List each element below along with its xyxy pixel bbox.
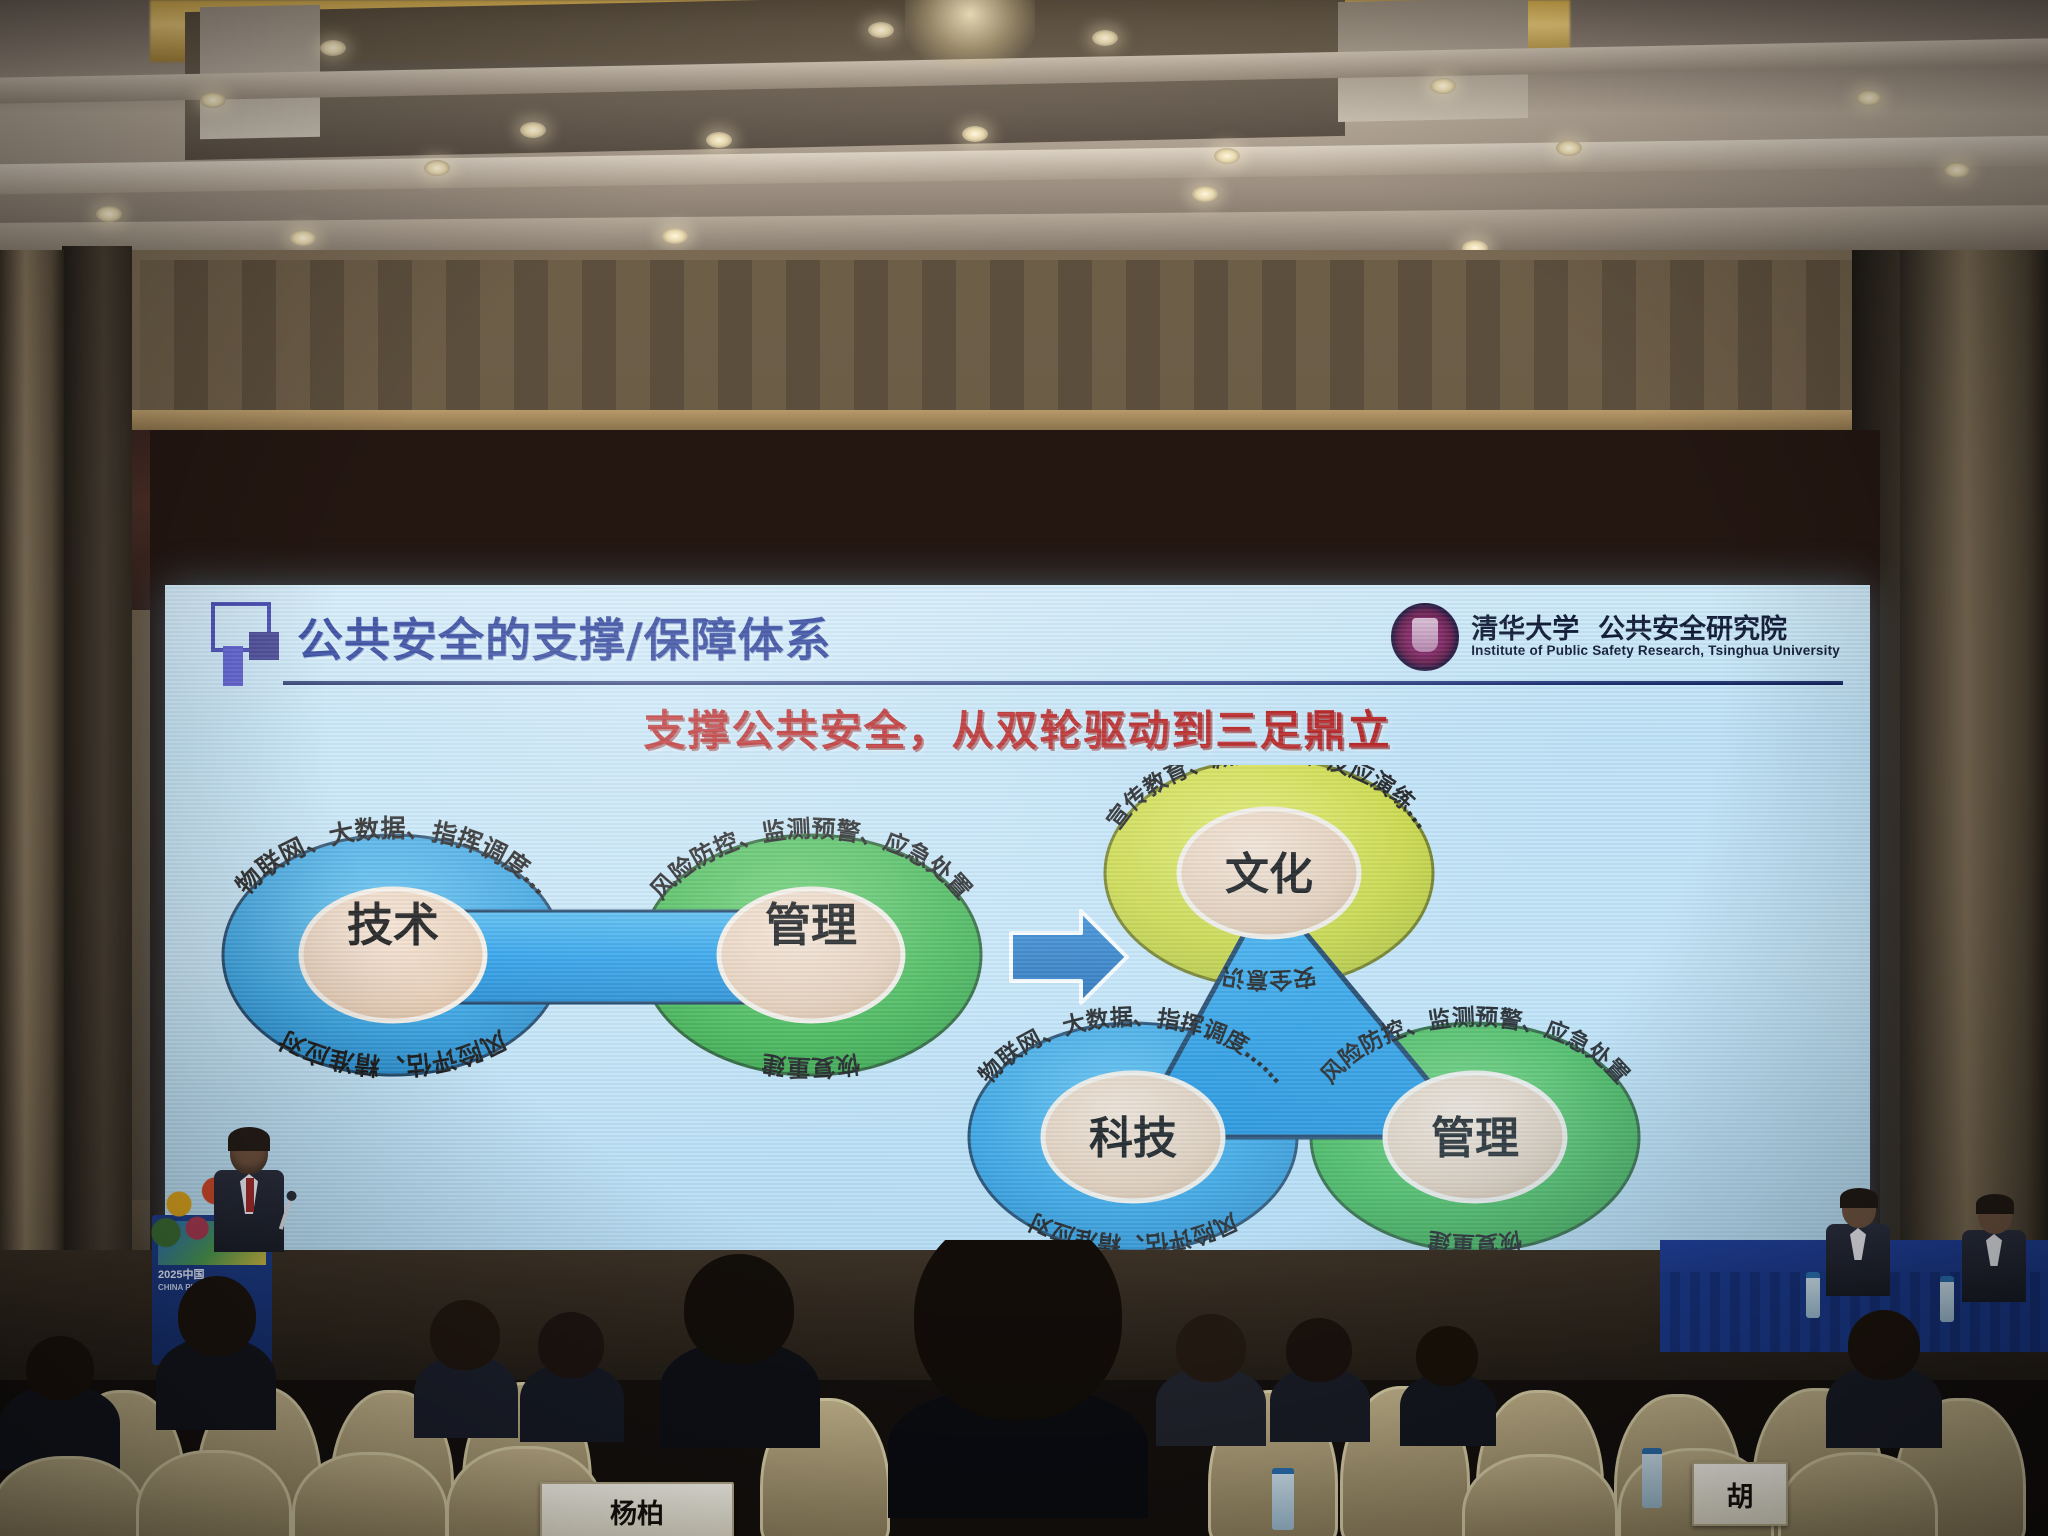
nameplate-right: 胡 bbox=[1692, 1462, 1788, 1526]
downlight bbox=[1944, 162, 1970, 178]
downlight bbox=[290, 230, 316, 246]
audience-member bbox=[1156, 1314, 1266, 1440]
wall-column-left bbox=[0, 250, 64, 1330]
node-label-management-left: 管理 bbox=[765, 898, 857, 952]
downlight bbox=[424, 160, 450, 176]
downlight bbox=[962, 126, 988, 142]
audience-member-foreground bbox=[888, 1240, 1148, 1510]
diagram-right-three-pillar: 宣传教育、减灾文化、反应演练… 安全意识 物联网、大数据、指挥调度…… 风险评估… bbox=[969, 765, 1639, 1257]
audience-member bbox=[1826, 1310, 1942, 1442]
downlight bbox=[868, 22, 894, 38]
logo-chinese-text: 清华大学 公共安全研究院 bbox=[1471, 616, 1840, 644]
wall-column-left-inner bbox=[62, 246, 132, 1336]
title-underline bbox=[283, 681, 1843, 685]
audience-member bbox=[414, 1300, 518, 1434]
audience-member bbox=[1400, 1326, 1496, 1442]
audience-member bbox=[156, 1276, 276, 1426]
water-bottle bbox=[1642, 1448, 1662, 1508]
ceiling bbox=[0, 0, 2048, 270]
title-decoration-squares-icon bbox=[205, 600, 297, 674]
downlight bbox=[1430, 78, 1456, 94]
diagram-left-two-wheel: 物联网、大数据、指挥调度… 风险评估、精准应对 风险防控、监测预警、应急处置 恢… bbox=[223, 814, 981, 1082]
node-label-management-right: 管理 bbox=[1431, 1113, 1519, 1164]
wall-column-right bbox=[1900, 250, 2048, 1340]
audience-member bbox=[520, 1312, 624, 1438]
downlight bbox=[1192, 186, 1218, 202]
downlight bbox=[1856, 90, 1882, 106]
downlight bbox=[662, 228, 688, 244]
water-bottle bbox=[1272, 1468, 1294, 1530]
tsinghua-seal-icon bbox=[1391, 603, 1459, 671]
chandelier bbox=[905, 0, 1035, 70]
nameplate-left: 杨柏 bbox=[540, 1482, 734, 1536]
downlight bbox=[320, 40, 346, 56]
downlight bbox=[96, 206, 122, 222]
node-label-culture: 文化 bbox=[1225, 849, 1313, 900]
node-label-technology: 技术 bbox=[347, 898, 439, 952]
audience-area: 杨柏 胡 bbox=[0, 1240, 2048, 1536]
audience-member bbox=[0, 1336, 120, 1466]
conference-photo: 公共安全的支撑/保障体系 清华大学 公共安全研究院 Institute of P… bbox=[0, 0, 2048, 1536]
audience-member bbox=[1270, 1318, 1370, 1438]
downlight bbox=[706, 132, 732, 148]
downlight bbox=[200, 92, 226, 108]
downlight bbox=[1556, 140, 1582, 156]
downlight bbox=[1092, 30, 1118, 46]
arrow-right-icon bbox=[1011, 911, 1127, 1003]
downlight bbox=[1214, 148, 1240, 164]
downlight bbox=[520, 122, 546, 138]
presenter-at-podium bbox=[214, 1130, 284, 1250]
institution-logo: 清华大学 公共安全研究院 Institute of Public Safety … bbox=[1391, 603, 1846, 671]
audience-member bbox=[660, 1254, 820, 1444]
slide-title: 公共安全的支撑/保障体系 bbox=[297, 604, 832, 670]
presentation-screen: 公共安全的支撑/保障体系 清华大学 公共安全研究院 Institute of P… bbox=[165, 585, 1870, 1275]
logo-english-text: Institute of Public Safety Research, Tsi… bbox=[1471, 644, 1840, 658]
slide-header: 公共安全的支撑/保障体系 清华大学 公共安全研究院 Institute of P… bbox=[205, 597, 1846, 677]
slide-diagram-area: 物联网、大数据、指挥调度… 风险评估、精准应对 风险防控、监测预警、应急处置 恢… bbox=[165, 765, 1870, 1265]
slide-subtitle: 支撑公共安全，从双轮驱动到三足鼎立 bbox=[165, 697, 1870, 758]
node-label-scitech: 科技 bbox=[1089, 1113, 1177, 1164]
